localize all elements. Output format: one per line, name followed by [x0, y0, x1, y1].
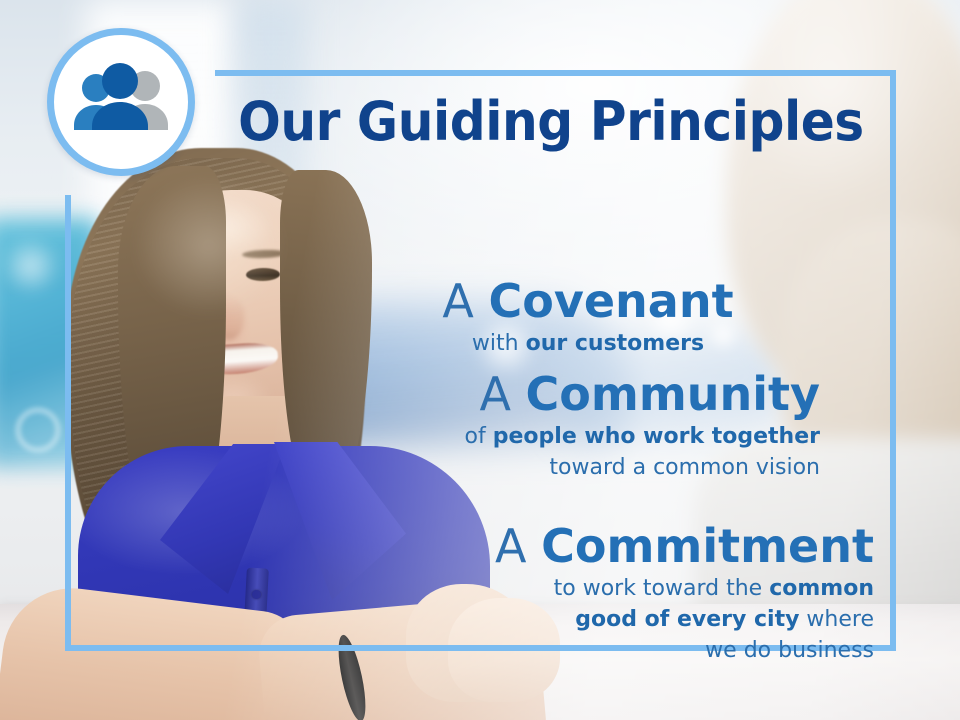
- principle-commitment: A Commitment to work toward the commongo…: [300, 519, 880, 666]
- principle-community-article: A: [479, 367, 525, 421]
- principle-commitment-title: A Commitment: [300, 519, 874, 573]
- principle-covenant: A Covenant with our customers: [300, 274, 880, 359]
- polo-button-top: [252, 590, 261, 599]
- page-title: Our Guiding Principles: [238, 92, 852, 152]
- principle-community-subtext: of people who work togethertoward a comm…: [300, 421, 820, 483]
- principle-commitment-article: A: [495, 519, 541, 573]
- principle-commitment-word: Commitment: [541, 519, 874, 573]
- principle-commitment-subtext: to work toward the commongood of every c…: [300, 573, 874, 666]
- principle-community-title: A Community: [300, 367, 820, 421]
- sign-highlight: [2, 236, 60, 296]
- principle-covenant-subtext: with our customers: [300, 328, 876, 359]
- principle-community-word: Community: [526, 367, 820, 421]
- principle-covenant-article: A: [442, 274, 488, 328]
- principles-list: A Covenant with our customers A Communit…: [300, 178, 880, 674]
- group-of-people-icon: [69, 62, 173, 142]
- group-of-people-badge: [47, 28, 195, 176]
- principle-covenant-title: A Covenant: [300, 274, 876, 328]
- principle-community: A Community of people who work togethert…: [300, 367, 880, 483]
- guiding-principles-banner: FLOW FLOW AUTOMOTIVE: [0, 0, 960, 720]
- hair-sheen: [134, 176, 284, 316]
- vw-logo-blurred-icon: [16, 408, 60, 452]
- principle-covenant-word: Covenant: [489, 274, 734, 328]
